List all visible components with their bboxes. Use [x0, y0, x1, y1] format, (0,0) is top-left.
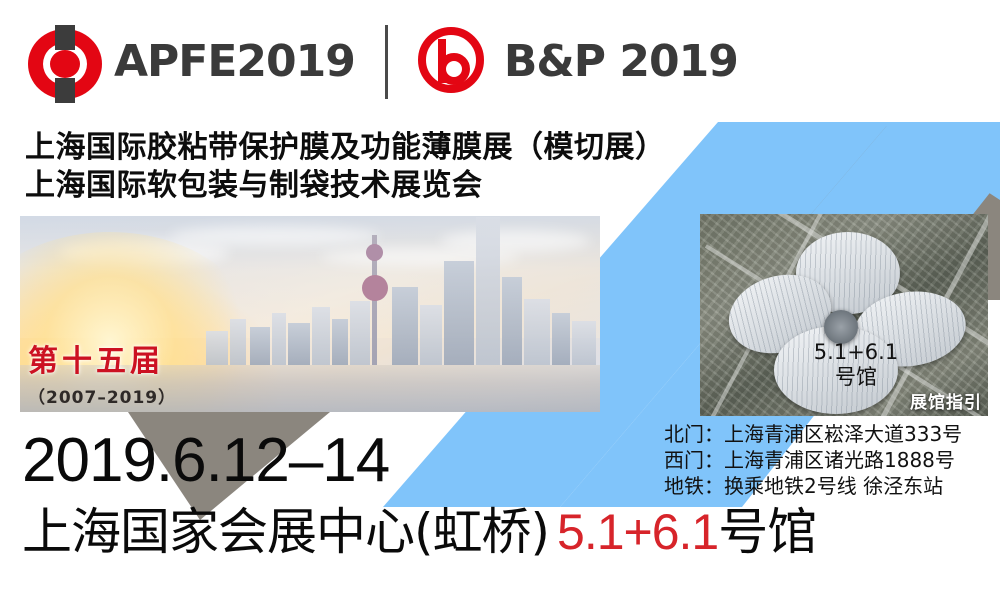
aerial-hall-unit: 号馆 — [786, 365, 926, 390]
edition-ordinal: 第十五届 — [28, 345, 176, 379]
bp-logo-block[interactable]: B&P 2019 — [418, 25, 738, 99]
address-line-metro: 地铁：换乘地铁2号线 徐泾东站 — [664, 473, 962, 499]
aerial-hall-label: 5.1+6.1 号馆 — [786, 340, 926, 390]
edition-badge: 第十五届 （2007–2019） — [28, 345, 176, 408]
venue-guide-label: 展馆指引 — [910, 388, 982, 413]
bp-circle-b-icon — [418, 25, 492, 99]
venue-hall-unit: 号馆 — [718, 503, 816, 561]
logo-row: APFE2019 B&P 2019 — [28, 20, 738, 104]
edition-years: （2007–2019） — [28, 383, 176, 408]
apfe-logo-block[interactable]: APFE2019 — [28, 25, 355, 99]
venue-hall-number: 5.1+6.1 — [557, 503, 718, 561]
apfe-wordmark: APFE2019 — [114, 40, 355, 84]
apfe-target-icon — [28, 25, 102, 99]
venue-row: 上海国家会展中心(虹桥) 5.1+6.1 号馆 — [22, 503, 816, 561]
venue-aerial-photo: 5.1+6.1 号馆 展馆指引 — [700, 214, 988, 416]
exhibition-titles: 上海国际胶粘带保护膜及功能薄膜展（模切展） 上海国际软包装与制袋技术展览会 — [25, 129, 666, 205]
title-line-1: 上海国际胶粘带保护膜及功能薄膜展（模切展） — [25, 129, 666, 167]
venue-name: 上海国家会展中心(虹桥) — [22, 503, 549, 561]
promo-banner: APFE2019 B&P 2019 上海国际胶粘带保护膜及功能薄膜展（模切展） … — [0, 0, 1000, 593]
address-block: 北门：上海青浦区崧泽大道333号 西门：上海青浦区诸光路1888号 地铁：换乘地… — [664, 421, 962, 499]
aerial-hall-number: 5.1+6.1 — [786, 340, 926, 365]
address-line-west-gate: 西门：上海青浦区诸光路1888号 — [664, 447, 962, 473]
vertical-divider-icon — [385, 25, 388, 99]
event-date: 2019.6.12–14 — [22, 428, 389, 494]
title-line-2: 上海国际软包装与制袋技术展览会 — [25, 167, 666, 205]
bp-wordmark: B&P 2019 — [504, 40, 738, 84]
address-line-north-gate: 北门：上海青浦区崧泽大道333号 — [664, 421, 962, 447]
